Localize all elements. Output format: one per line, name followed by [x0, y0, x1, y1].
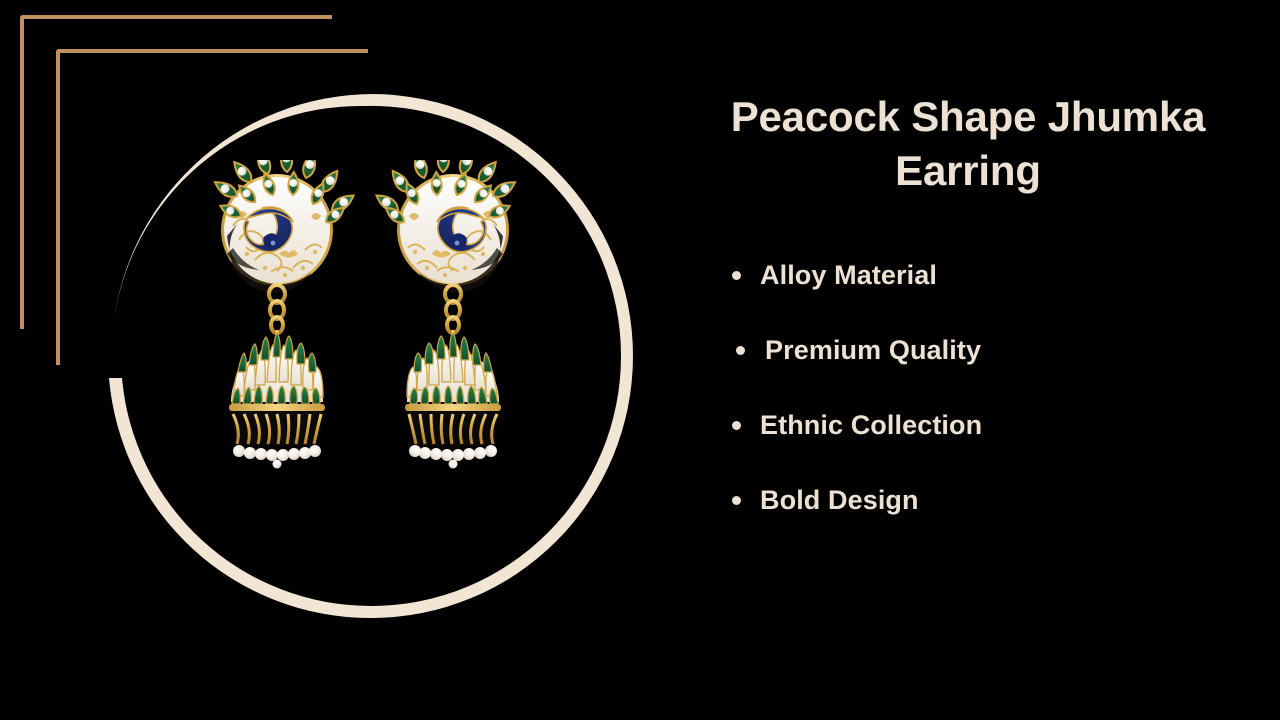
product-info-panel: Peacock Shape Jhumka Earring Alloy Mater…: [688, 70, 1248, 630]
feature-label: Premium Quality: [765, 333, 981, 367]
feature-label: Ethnic Collection: [760, 408, 982, 442]
page-title: Peacock Shape Jhumka Earring: [710, 90, 1226, 198]
product-image-earrings: [185, 160, 545, 520]
feature-label: Alloy Material: [760, 258, 937, 292]
bullet-icon: [732, 421, 741, 430]
bullet-icon: [736, 346, 745, 355]
feature-label: Bold Design: [760, 483, 919, 517]
list-item: Alloy Material: [732, 258, 1248, 333]
slide-canvas: Peacock Shape Jhumka Earring Alloy Mater…: [0, 0, 1280, 720]
list-item: Ethnic Collection: [732, 408, 1248, 483]
list-item: Bold Design: [732, 483, 1248, 558]
bullet-icon: [732, 271, 741, 280]
list-item: Premium Quality: [732, 333, 1248, 408]
bullet-icon: [732, 496, 741, 505]
feature-list: Alloy Material Premium Quality Ethnic Co…: [688, 258, 1248, 558]
